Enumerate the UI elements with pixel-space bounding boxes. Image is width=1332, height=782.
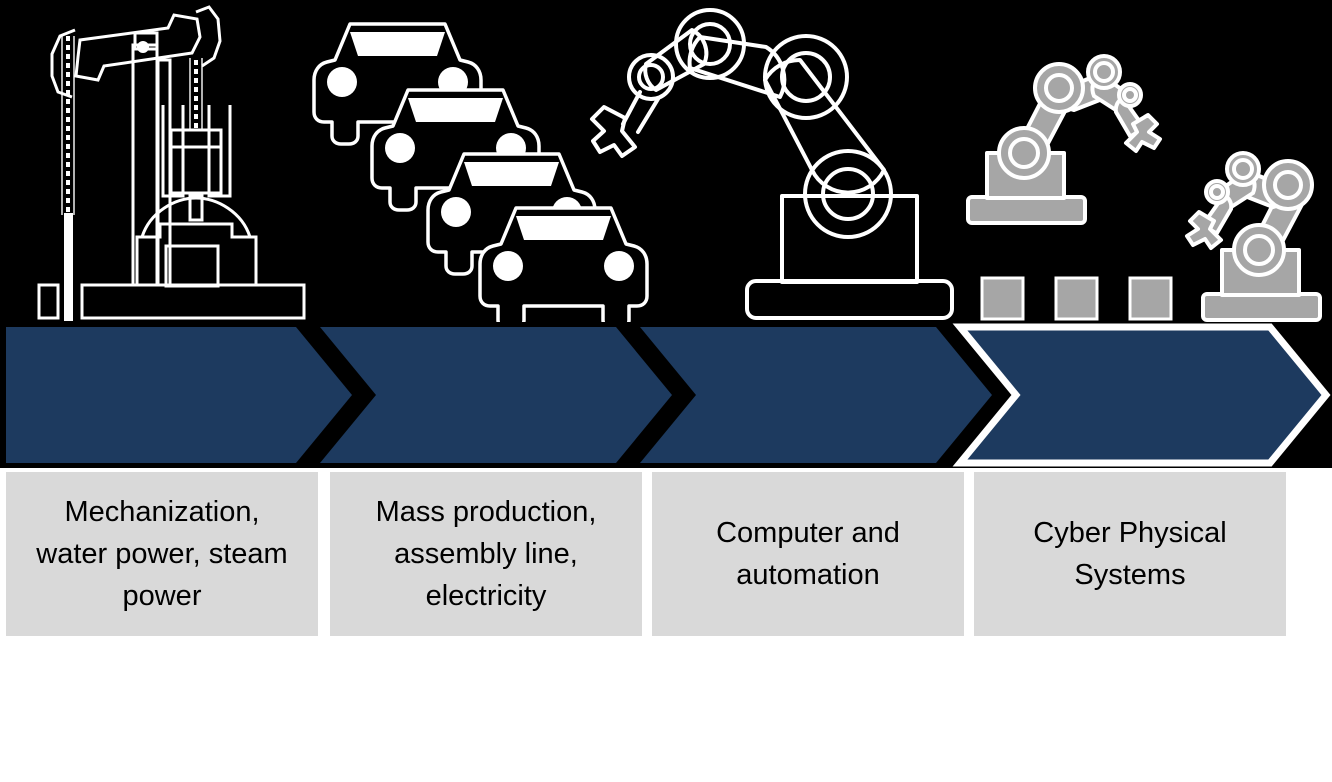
chevron-stage-1[interactable] [6,327,352,463]
stage-description-line: automation [716,554,900,596]
part-box-1 [982,278,1023,319]
stage-description-card-2[interactable]: Mass production, assembly line, electric… [330,472,642,636]
stage-description-line: electricity [376,575,597,617]
illustration-band [0,0,1332,322]
illustration-canvas [0,0,1332,322]
stage-description-card-3[interactable]: Computer and automation [652,472,964,636]
stage-ordinal-4: 4th [970,644,1300,782]
stage-description-card-1[interactable]: Mechanization, water power, steam power [6,472,318,636]
stage-description-line: Cyber Physical [1033,512,1226,554]
infographic-root: 1st 2nd 3rd 4th Mechanization, water pow… [0,0,1332,647]
stage-ordinal-3: 3rd [650,644,970,782]
chevron-stage-4[interactable] [960,327,1326,463]
stage-description-line: Mechanization, [36,491,287,533]
stage-ordinal-2: 2nd [320,644,650,782]
stage-ordinal-1: 1st [0,644,320,782]
stage-description-line: Systems [1033,554,1226,596]
part-box-2 [1056,278,1097,319]
stage-description-line: water power, steam [36,533,287,575]
stage-description-line: assembly line, [376,533,597,575]
chevron-canvas [0,322,1332,468]
stage-description-line: Computer and [716,512,900,554]
stage-description-card-4[interactable]: Cyber Physical Systems [974,472,1286,636]
stage-description-line: power [36,575,287,617]
stage-description-line: Mass production, [376,491,597,533]
stage-chevron-banner: 1st 2nd 3rd 4th [0,322,1332,468]
stage-description-row: Mechanization, water power, steam power … [0,468,1332,647]
part-box-3 [1130,278,1171,319]
